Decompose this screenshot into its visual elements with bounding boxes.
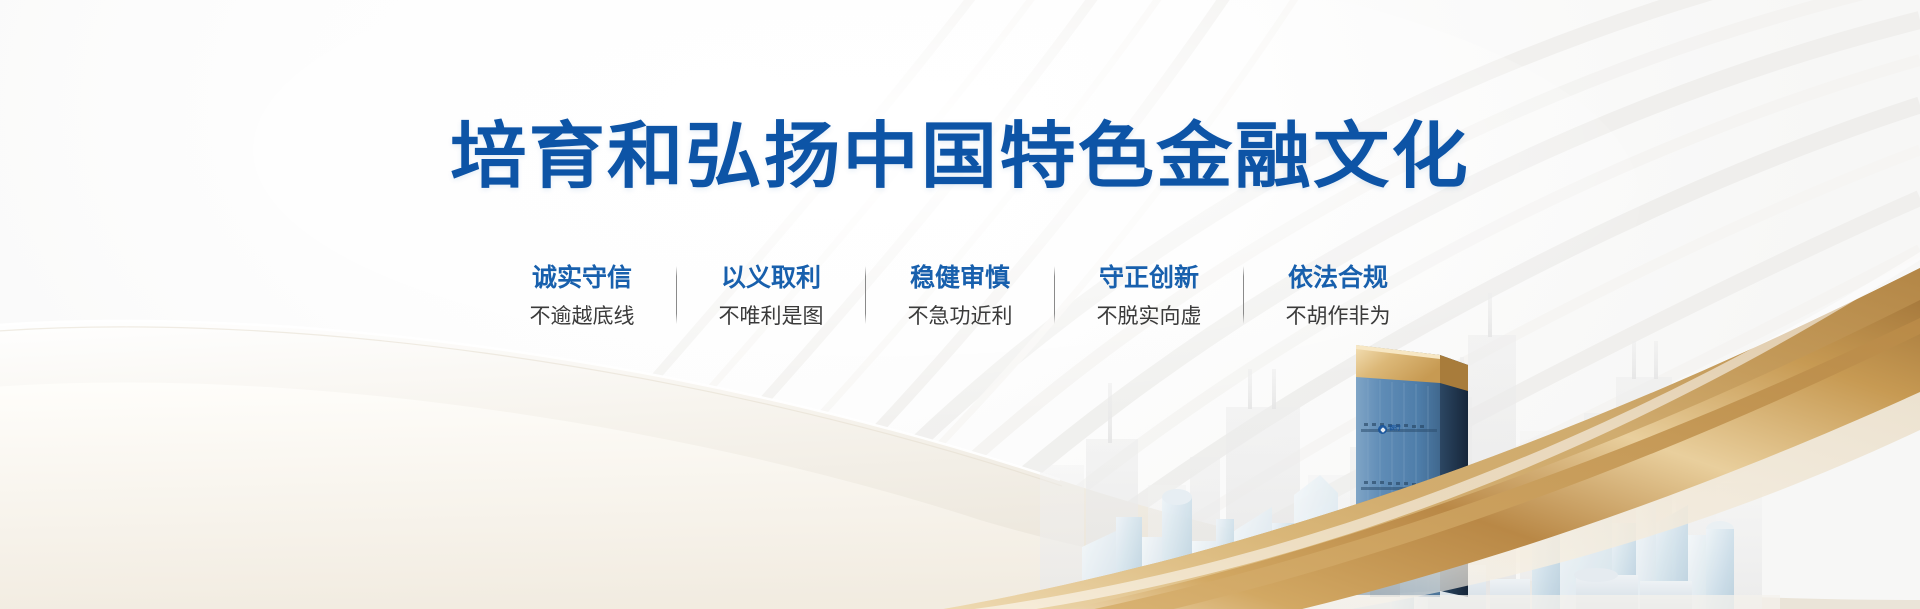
bank-logo-mark <box>1378 425 1387 434</box>
banner-root: 银行 培育和弘扬中国特色金融文化 诚实守信 不逾越底线 以义取利 不唯利是图 稳… <box>0 0 1920 609</box>
value-head-5: 依法合规 <box>1272 262 1404 294</box>
value-sub-1: 不逾越底线 <box>516 302 648 330</box>
value-head-2: 以义取利 <box>705 262 837 294</box>
value-divider-2 <box>865 266 866 324</box>
value-item-4: 守正创新 不脱实向虚 <box>1079 262 1219 330</box>
value-item-1: 诚实守信 不逾越底线 <box>512 262 652 330</box>
value-divider-1 <box>676 266 677 324</box>
values-row: 诚实守信 不逾越底线 以义取利 不唯利是图 稳健审慎 不急功近利 守正创新 不脱… <box>0 262 1920 330</box>
value-sub-4: 不脱实向虚 <box>1083 302 1215 330</box>
value-sub-2: 不唯利是图 <box>705 302 837 330</box>
bank-logo-text: 银行 <box>1389 426 1400 433</box>
bank-logo: 银行 <box>1378 424 1420 435</box>
value-item-5: 依法合规 不胡作非为 <box>1268 262 1408 330</box>
value-sub-3: 不急功近利 <box>894 302 1026 330</box>
value-item-2: 以义取利 不唯利是图 <box>701 262 841 330</box>
value-head-4: 守正创新 <box>1083 262 1215 294</box>
value-item-3: 稳健审慎 不急功近利 <box>890 262 1030 330</box>
value-divider-4 <box>1243 266 1244 324</box>
value-sub-5: 不胡作非为 <box>1272 302 1404 330</box>
value-head-3: 稳健审慎 <box>894 262 1026 294</box>
value-divider-3 <box>1054 266 1055 324</box>
value-head-1: 诚实守信 <box>516 262 648 294</box>
